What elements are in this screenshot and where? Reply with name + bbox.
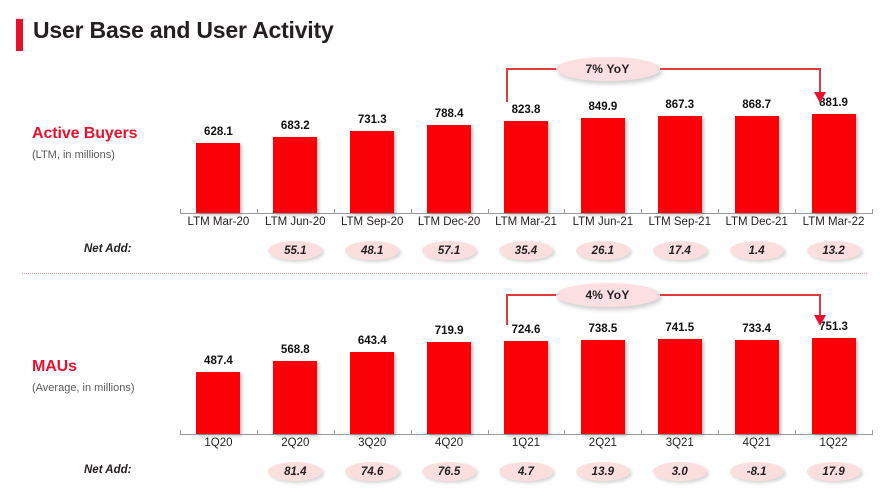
yoy-bracket-right xyxy=(819,68,821,92)
bar-value-label: 628.1 xyxy=(180,126,257,138)
category-label: LTM Sep-21 xyxy=(641,216,718,228)
bar-group[interactable]: 628.1LTM Mar-20 xyxy=(180,56,257,270)
yoy-bracket-left xyxy=(506,68,508,102)
bar-value-label: 868.7 xyxy=(718,99,795,111)
category-label: LTM Mar-22 xyxy=(795,216,872,228)
net-add-pill: 57.1 xyxy=(422,241,476,260)
yoy-bracket-horizontal xyxy=(506,294,819,296)
net-add-pill: -8.1 xyxy=(730,462,784,481)
bar[interactable] xyxy=(273,361,317,434)
chart-subtitle-maus: (Average, in millions) xyxy=(32,382,135,394)
category-label: 1Q20 xyxy=(180,437,257,449)
bar-value-label: 849.9 xyxy=(564,101,641,113)
net-add-pill: 17.9 xyxy=(807,462,861,481)
category-label: 1Q22 xyxy=(795,437,872,449)
yoy-bracket-horizontal xyxy=(506,68,819,70)
bar-group[interactable]: 568.82Q20 xyxy=(257,282,334,491)
category-label: LTM Dec-20 xyxy=(411,216,488,228)
bar-value-label: 823.8 xyxy=(488,104,565,116)
bar-group[interactable]: 751.31Q22 xyxy=(795,282,872,491)
net-add-pill: 55.1 xyxy=(268,241,322,260)
net-add-pill: 76.5 xyxy=(422,462,476,481)
bar[interactable] xyxy=(735,116,779,213)
yoy-callout-pill: 7% YoY xyxy=(556,57,660,81)
chart-title-maus: MAUs xyxy=(32,358,77,376)
bar-value-label: 731.3 xyxy=(334,114,411,126)
bar-group[interactable]: 719.94Q20 xyxy=(411,282,488,491)
slide-header: User Base and User Activity xyxy=(0,14,885,56)
bar-value-label: 738.5 xyxy=(564,323,641,335)
bar-value-label: 643.4 xyxy=(334,335,411,347)
slide-root: User Base and User Activity Active Buyer… xyxy=(0,0,885,491)
category-label: 3Q20 xyxy=(334,437,411,449)
bar-group[interactable]: 741.53Q21 xyxy=(641,282,718,491)
net-add-label-bottom: Net Add: xyxy=(84,464,131,476)
category-label: LTM Jun-20 xyxy=(257,216,334,228)
axis-tick xyxy=(872,209,873,214)
bar[interactable] xyxy=(658,116,702,213)
bar[interactable] xyxy=(504,341,548,434)
bar-group[interactable]: 823.8LTM Mar-21 xyxy=(488,56,565,270)
net-add-pill: 3.0 xyxy=(653,462,707,481)
bar-value-label: 724.6 xyxy=(488,324,565,336)
bar-value-label: 788.4 xyxy=(411,108,488,120)
net-add-pill: 1.4 xyxy=(730,241,784,260)
bar[interactable] xyxy=(427,342,471,434)
axis-tick xyxy=(872,430,873,435)
bar[interactable] xyxy=(658,339,702,434)
net-add-label-top: Net Add: xyxy=(84,243,131,255)
yoy-callout-pill: 4% YoY xyxy=(556,283,660,307)
category-label: LTM Mar-20 xyxy=(180,216,257,228)
bar-value-label: 741.5 xyxy=(641,322,718,334)
bar[interactable] xyxy=(350,131,394,213)
bar-value-label: 487.4 xyxy=(180,355,257,367)
chart-panel-active-buyers: Active Buyers (LTM, in millions) 628.1LT… xyxy=(0,56,885,270)
bar[interactable] xyxy=(196,143,240,213)
chart-subtitle-active-buyers: (LTM, in millions) xyxy=(32,149,115,161)
bar[interactable] xyxy=(812,114,856,213)
category-label: 2Q20 xyxy=(257,437,334,449)
category-label: 1Q21 xyxy=(488,437,565,449)
bar-group[interactable]: 733.44Q21 xyxy=(718,282,795,491)
bar-group[interactable]: 881.9LTM Mar-22 xyxy=(795,56,872,270)
bar[interactable] xyxy=(350,352,394,434)
bar[interactable] xyxy=(504,121,548,213)
bar-value-label: 719.9 xyxy=(411,325,488,337)
yoy-arrow-icon xyxy=(814,315,826,326)
plot-area-maus: 487.41Q20568.82Q2081.4643.43Q2074.6719.9… xyxy=(180,282,872,491)
bar-value-label: 751.3 xyxy=(795,321,872,333)
bar-group[interactable]: 683.2LTM Jun-20 xyxy=(257,56,334,270)
bar[interactable] xyxy=(427,125,471,213)
net-add-pill: 13.2 xyxy=(807,241,861,260)
chart-panel-maus: MAUs (Average, in millions) 487.41Q20568… xyxy=(0,282,885,491)
bar-group[interactable]: 868.7LTM Dec-21 xyxy=(718,56,795,270)
bar-group[interactable]: 487.41Q20 xyxy=(180,282,257,491)
net-add-pill: 48.1 xyxy=(345,241,399,260)
bar[interactable] xyxy=(273,137,317,213)
category-label: LTM Dec-21 xyxy=(718,216,795,228)
bar-group[interactable]: 738.52Q21 xyxy=(564,282,641,491)
panel-divider xyxy=(22,273,867,274)
bar[interactable] xyxy=(812,338,856,434)
net-add-pill: 81.4 xyxy=(268,462,322,481)
category-label: 4Q21 xyxy=(718,437,795,449)
yoy-bracket-left xyxy=(506,294,508,325)
bar-value-label: 568.8 xyxy=(257,344,334,356)
category-label: 3Q21 xyxy=(641,437,718,449)
net-add-pill: 35.4 xyxy=(499,241,553,260)
category-label: 4Q20 xyxy=(411,437,488,449)
net-add-pill: 74.6 xyxy=(345,462,399,481)
net-add-pill: 13.9 xyxy=(576,462,630,481)
bar-value-label: 867.3 xyxy=(641,99,718,111)
category-label: 2Q21 xyxy=(564,437,641,449)
bar[interactable] xyxy=(581,118,625,213)
category-label: LTM Jun-21 xyxy=(564,216,641,228)
chart-title-active-buyers: Active Buyers xyxy=(32,125,137,143)
net-add-pill: 4.7 xyxy=(499,462,553,481)
plot-area-active-buyers: 628.1LTM Mar-20683.2LTM Jun-2055.1731.3L… xyxy=(180,56,872,270)
title-accent-bar xyxy=(16,19,23,51)
bar-group[interactable]: 724.61Q21 xyxy=(488,282,565,491)
bar-group[interactable]: 788.4LTM Dec-20 xyxy=(411,56,488,270)
bar-group[interactable]: 849.9LTM Jun-21 xyxy=(564,56,641,270)
yoy-bracket-right xyxy=(819,294,821,315)
bar[interactable] xyxy=(735,340,779,434)
bar[interactable] xyxy=(581,340,625,434)
bar-value-label: 733.4 xyxy=(718,323,795,335)
bar-value-label: 881.9 xyxy=(795,97,872,109)
bar-group[interactable]: 867.3LTM Sep-21 xyxy=(641,56,718,270)
net-add-pill: 17.4 xyxy=(653,241,707,260)
category-label: LTM Sep-20 xyxy=(334,216,411,228)
bar[interactable] xyxy=(196,372,240,434)
bar-value-label: 683.2 xyxy=(257,120,334,132)
bar-group[interactable]: 731.3LTM Sep-20 xyxy=(334,56,411,270)
bar-group[interactable]: 643.43Q20 xyxy=(334,282,411,491)
page-title: User Base and User Activity xyxy=(33,17,334,44)
net-add-pill: 26.1 xyxy=(576,241,630,260)
category-label: LTM Mar-21 xyxy=(488,216,565,228)
yoy-arrow-icon xyxy=(814,92,826,103)
